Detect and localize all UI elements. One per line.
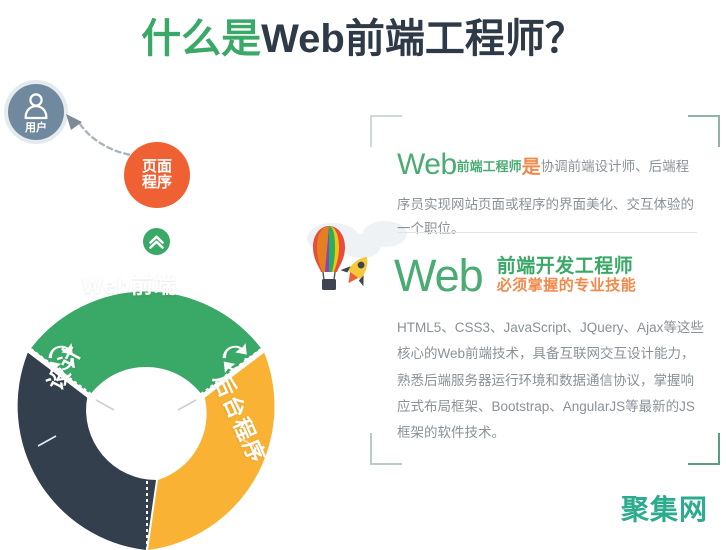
user-icon [21, 91, 51, 121]
skills-heading: Web 前端开发工程师 必须掌握的专业技能 [394, 253, 636, 298]
panel-divider [397, 232, 697, 233]
page-program-node: 页面 程序 [124, 142, 190, 208]
page-program-line2: 程序 [142, 175, 172, 191]
hot-air-balloon-icon [313, 226, 345, 290]
page-title-green: 什么是 [141, 17, 261, 61]
page-program-line1: 页面 [142, 159, 172, 175]
content-panel: Web前端工程师是协调前端设计师、后端程序员实现网站页面或程序的界面美化、交互体… [370, 115, 726, 470]
donut-label-front-end: Web前端 [82, 268, 177, 300]
skills-body-text: HTML5、CSS3、JavaScript、JQuery、Ajax等这些核心的W… [397, 315, 705, 447]
tick-left [96, 400, 114, 410]
infographic-canvas: 什么是Web前端工程师？ 用户 页面 程序 [0, 0, 726, 540]
site-logo: 聚集网 [621, 488, 708, 528]
definition-role-word: 前端工程师 [457, 159, 522, 174]
definition-paragraph: Web前端工程师是协调前端设计师、后端程序员实现网站页面或程序的界面美化、交互体… [397, 137, 702, 242]
tick-right [178, 400, 196, 410]
definition-is-word: 是 [522, 157, 541, 178]
page-title: 什么是Web前端工程师？ [0, 6, 726, 64]
skills-heading-green: 前端开发工程师 [497, 256, 637, 277]
skills-heading-orange: 必须掌握的专业技能 [497, 278, 637, 295]
page-title-dark: Web前端工程师？ [261, 17, 585, 61]
skills-web-word: Web [394, 253, 483, 298]
definition-web-word: Web [397, 148, 457, 181]
